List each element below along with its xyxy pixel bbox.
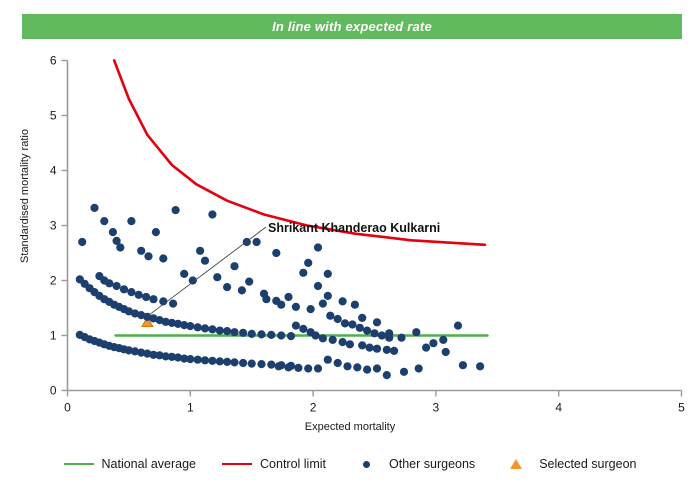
other-surgeon-point[interactable] [275, 362, 283, 370]
other-surgeon-point[interactable] [223, 358, 231, 366]
other-surgeon-point[interactable] [208, 210, 216, 218]
line-swatch-icon [64, 463, 94, 465]
other-surgeon-point[interactable] [253, 238, 261, 246]
other-surgeon-point[interactable] [137, 247, 145, 255]
other-surgeon-point[interactable] [201, 324, 209, 332]
y-axis-tick-label: 4 [50, 164, 57, 178]
other-surgeon-point[interactable] [363, 366, 371, 374]
other-surgeon-point[interactable] [356, 324, 364, 332]
other-surgeon-point[interactable] [135, 291, 143, 299]
other-surgeon-point[interactable] [208, 357, 216, 365]
other-surgeon-point[interactable] [213, 273, 221, 281]
other-surgeon-point[interactable] [383, 371, 391, 379]
other-surgeon-point[interactable] [339, 297, 347, 305]
other-surgeon-point[interactable] [292, 303, 300, 311]
other-surgeon-point[interactable] [159, 254, 167, 262]
y-axis-tick-label: 0 [50, 384, 57, 398]
chart-page: In line with expected rate 0123456012345… [0, 0, 700, 500]
other-surgeon-point[interactable] [90, 204, 98, 212]
other-surgeon-point[interactable] [314, 282, 322, 290]
other-surgeon-point[interactable] [366, 344, 374, 352]
other-surgeon-point[interactable] [257, 360, 265, 368]
other-surgeon-point[interactable] [299, 325, 307, 333]
other-surgeon-point[interactable] [284, 363, 292, 371]
other-surgeon-point[interactable] [152, 228, 160, 236]
other-surgeon-point[interactable] [299, 269, 307, 277]
other-surgeon-point[interactable] [319, 300, 327, 308]
other-surgeon-point[interactable] [223, 327, 231, 335]
other-surgeon-point[interactable] [334, 359, 342, 367]
y-axis-tick-label: 3 [50, 219, 57, 233]
other-surgeon-point[interactable] [294, 364, 302, 372]
other-surgeon-point[interactable] [186, 322, 194, 330]
legend-item[interactable]: Selected surgeon [501, 457, 636, 471]
other-surgeon-point[interactable] [230, 262, 238, 270]
other-surgeon-point[interactable] [105, 279, 113, 287]
other-surgeon-point[interactable] [334, 315, 342, 323]
other-surgeon-point[interactable] [415, 364, 423, 372]
other-surgeon-point[interactable] [390, 347, 398, 355]
other-surgeon-point[interactable] [142, 293, 150, 301]
other-surgeon-point[interactable] [230, 328, 238, 336]
other-surgeon-point[interactable] [277, 331, 285, 339]
x-axis-tick-label: 3 [433, 401, 440, 415]
other-surgeon-point[interactable] [189, 276, 197, 284]
other-surgeon-point[interactable] [383, 346, 391, 354]
other-surgeon-point[interactable] [439, 336, 447, 344]
x-axis-tick-label: 0 [64, 401, 71, 415]
other-surgeon-point[interactable] [267, 331, 275, 339]
other-surgeon-point[interactable] [385, 329, 393, 337]
other-surgeon-point[interactable] [397, 334, 405, 342]
other-surgeon-point[interactable] [262, 295, 270, 303]
y-axis-tick-label: 2 [50, 274, 57, 288]
other-surgeon-point[interactable] [144, 252, 152, 260]
legend-item-label: Other surgeons [389, 457, 475, 471]
legend-item-label: National average [102, 457, 197, 471]
other-surgeon-point[interactable] [341, 319, 349, 327]
other-surgeon-point[interactable] [307, 305, 315, 313]
y-axis-tick-label: 1 [50, 329, 57, 343]
other-surgeon-point[interactable] [459, 361, 467, 369]
other-surgeon-point[interactable] [346, 340, 354, 348]
other-surgeon-point[interactable] [248, 330, 256, 338]
x-axis-tick-label: 5 [678, 401, 685, 415]
y-axis-title: Standardised mortality ratio [19, 96, 31, 296]
line-swatch-icon [222, 463, 252, 465]
other-surgeon-point[interactable] [319, 334, 327, 342]
legend-item[interactable]: Control limit [222, 457, 326, 471]
other-surgeon-point[interactable] [267, 361, 275, 369]
other-surgeon-point[interactable] [127, 288, 135, 296]
other-surgeon-point[interactable] [113, 282, 121, 290]
legend-item[interactable]: Other surgeons [352, 457, 475, 471]
other-surgeon-point[interactable] [169, 300, 177, 308]
legend-item-label: Selected surgeon [539, 457, 636, 471]
other-surgeon-point[interactable] [292, 322, 300, 330]
other-surgeon-point[interactable] [304, 259, 312, 267]
dot-swatch-icon [363, 461, 370, 468]
other-surgeon-point[interactable] [400, 368, 408, 376]
chart-legend: National averageControl limitOther surge… [0, 457, 700, 471]
x-axis-title: Expected mortality [0, 421, 700, 433]
other-surgeon-point[interactable] [216, 357, 224, 365]
other-surgeon-point[interactable] [353, 363, 361, 371]
other-surgeon-point[interactable] [314, 243, 322, 251]
other-surgeon-point[interactable] [373, 345, 381, 353]
selected-surgeon-annotation: Shrikant Khanderao Kulkarni [268, 221, 440, 235]
other-surgeon-point[interactable] [201, 356, 209, 364]
other-surgeon-point[interactable] [277, 301, 285, 309]
other-surgeon-point[interactable] [180, 270, 188, 278]
control-limit-line [114, 61, 485, 245]
other-surgeon-point[interactable] [324, 356, 332, 364]
other-surgeon-point[interactable] [127, 217, 135, 225]
other-surgeon-point[interactable] [230, 358, 238, 366]
other-surgeon-point[interactable] [201, 257, 209, 265]
other-surgeon-point[interactable] [113, 237, 121, 245]
y-axis-tick-label: 5 [50, 109, 57, 123]
other-surgeon-point[interactable] [223, 283, 231, 291]
other-surgeon-point[interactable] [109, 228, 117, 236]
other-surgeon-point[interactable] [324, 292, 332, 300]
other-surgeon-point[interactable] [216, 327, 224, 335]
x-axis-tick-label: 4 [555, 401, 562, 415]
other-surgeon-point[interactable] [257, 330, 265, 338]
other-surgeon-point[interactable] [194, 323, 202, 331]
other-surgeon-point[interactable] [196, 247, 204, 255]
other-surgeon-point[interactable] [304, 364, 312, 372]
annotation-leader-line [147, 227, 266, 316]
other-surgeon-point[interactable] [172, 206, 180, 214]
y-axis-tick-label: 6 [50, 54, 57, 68]
other-surgeon-point[interactable] [442, 348, 450, 356]
other-surgeon-point[interactable] [186, 355, 194, 363]
other-surgeon-point[interactable] [358, 341, 366, 349]
other-surgeon-point[interactable] [78, 238, 86, 246]
x-axis-tick-label: 2 [310, 401, 317, 415]
other-surgeon-point[interactable] [422, 344, 430, 352]
other-surgeon-point[interactable] [370, 329, 378, 337]
other-surgeon-point[interactable] [312, 331, 320, 339]
other-surgeon-point[interactable] [149, 295, 157, 303]
other-surgeon-point[interactable] [120, 285, 128, 293]
other-surgeon-point[interactable] [284, 293, 292, 301]
other-surgeon-point[interactable] [348, 320, 356, 328]
other-surgeon-point[interactable] [476, 362, 484, 370]
other-surgeon-point[interactable] [329, 336, 337, 344]
funnel-plot-chart: 0123456012345 Standardised mortality rat… [0, 0, 700, 500]
legend-item[interactable]: National average [64, 457, 197, 471]
other-surgeon-point[interactable] [272, 249, 280, 257]
other-surgeon-point[interactable] [358, 314, 366, 322]
other-surgeon-point[interactable] [343, 362, 351, 370]
other-surgeon-point[interactable] [287, 332, 295, 340]
other-surgeon-point[interactable] [363, 327, 371, 335]
other-surgeon-point[interactable] [100, 217, 108, 225]
other-surgeon-point[interactable] [454, 322, 462, 330]
other-surgeon-point[interactable] [239, 329, 247, 337]
triangle-swatch-icon [510, 459, 522, 469]
other-surgeon-point[interactable] [326, 312, 334, 320]
other-surgeon-point[interactable] [314, 364, 322, 372]
other-surgeon-point[interactable] [378, 331, 386, 339]
other-surgeon-point[interactable] [373, 318, 381, 326]
other-surgeon-point[interactable] [339, 338, 347, 346]
other-surgeon-point[interactable] [248, 360, 256, 368]
other-surgeon-point[interactable] [373, 364, 381, 372]
other-surgeon-point[interactable] [194, 356, 202, 364]
x-axis-tick-label: 1 [187, 401, 194, 415]
other-surgeon-point[interactable] [245, 278, 253, 286]
other-surgeon-point[interactable] [351, 301, 359, 309]
other-surgeon-point[interactable] [238, 286, 246, 294]
other-surgeon-point[interactable] [412, 328, 420, 336]
other-surgeon-point[interactable] [239, 359, 247, 367]
legend-item-label: Control limit [260, 457, 326, 471]
other-surgeon-point[interactable] [429, 339, 437, 347]
other-surgeon-point[interactable] [324, 270, 332, 278]
other-surgeon-point[interactable] [208, 325, 216, 333]
